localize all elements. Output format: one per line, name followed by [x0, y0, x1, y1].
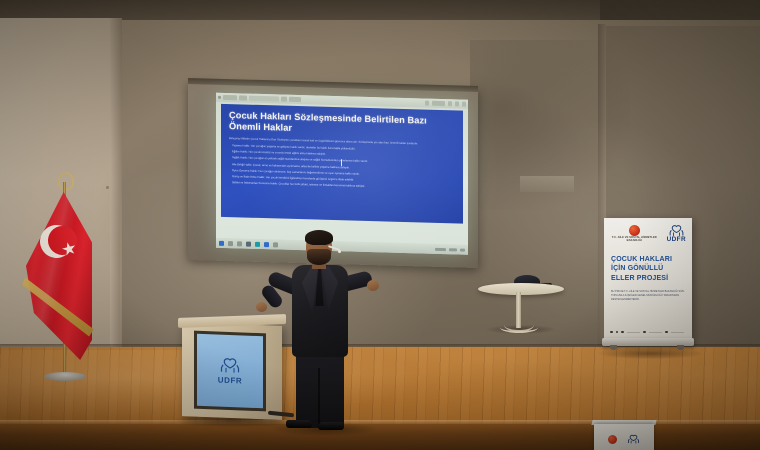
- roller-dot: [616, 331, 619, 334]
- udfr-logo: UDFR: [667, 225, 686, 243]
- text-cursor: [341, 159, 342, 166]
- explorer-icon[interactable]: [246, 241, 251, 246]
- speaker-hair: [305, 230, 333, 245]
- flag-finial-icon: [58, 172, 74, 190]
- floor-sign: [594, 424, 654, 450]
- roller-rail: [627, 332, 641, 333]
- browser-share-icon[interactable]: [425, 101, 429, 106]
- banner-sheet: T.C. AİLE VE SOSYAL HİZMETLER BAKANLIĞI …: [604, 218, 692, 340]
- banner-feet: [610, 345, 684, 351]
- speaker-legs: [296, 352, 344, 428]
- speaker-leg-seam: [318, 368, 320, 426]
- roller-dot: [621, 331, 624, 334]
- rollup-banner: T.C. AİLE VE SOSYAL HİZMETLER BAKANLIĞI …: [604, 218, 696, 358]
- minimize-icon[interactable]: [448, 101, 452, 106]
- roller-rail: [671, 332, 685, 333]
- taskbar-tray[interactable]: [435, 247, 465, 251]
- ministry-emblem-icon: [629, 225, 640, 236]
- table-foot: [500, 322, 538, 333]
- browser-present-button[interactable]: [432, 101, 445, 106]
- table-top: [478, 283, 564, 295]
- slide-body: Birleşmiş Milletler Çocuk Haklarına Dair…: [229, 138, 455, 192]
- banner-foot: [610, 345, 617, 350]
- speaker-right-shoe: [318, 422, 344, 430]
- ministry-logo-text: T.C. AİLE VE SOSYAL HİZMETLER BAKANLIĞI: [611, 237, 658, 242]
- udfr-logo-icon: [219, 357, 241, 374]
- browser-tab-3[interactable]: [289, 97, 301, 102]
- roller-dot: [643, 331, 646, 334]
- banner-foot: [677, 345, 684, 350]
- wall-hook-icon: [106, 186, 109, 189]
- roller-dot: [610, 331, 613, 334]
- search-icon[interactable]: [228, 241, 233, 246]
- projected-computer-screen: Çocuk Hakları Sözleşmesinde Belirtilen B…: [216, 93, 468, 255]
- roller-dot: [665, 331, 668, 334]
- browser-window-controls[interactable]: [425, 101, 466, 107]
- banner-roller-mechanism: [610, 330, 684, 334]
- ministry-emblem-icon: [608, 435, 617, 444]
- close-icon[interactable]: [462, 102, 466, 107]
- browser-new-tab-icon[interactable]: [281, 97, 287, 102]
- wall-light-patch: [520, 176, 574, 192]
- clock[interactable]: [449, 248, 457, 251]
- udfr-logo-text: UDFR: [667, 237, 686, 243]
- podium-logo-panel: UDFR: [197, 334, 263, 409]
- banner-subtext: BU PROJE T.C. AİLE VE SOSYAL HİZMETLER B…: [611, 290, 686, 302]
- ministry-logo: T.C. AİLE VE SOSYAL HİZMETLER BAKANLIĞI: [611, 225, 658, 242]
- udfr-logo-icon: [627, 434, 640, 445]
- podium: UDFR: [176, 316, 288, 428]
- maximize-icon[interactable]: [455, 101, 459, 106]
- speaker-left-hand: [256, 302, 267, 312]
- browser-back-icon[interactable]: [218, 96, 221, 99]
- podium-logo-text: UDFR: [218, 375, 243, 385]
- browser-tab-2[interactable]: [239, 95, 247, 100]
- roller-rail: [649, 332, 663, 333]
- microphone-capsule: [338, 250, 341, 253]
- presentation-slide: Çocuk Hakları Sözleşmesinde Belirtilen B…: [221, 104, 463, 224]
- task-view-icon[interactable]: [237, 241, 242, 246]
- browser-tab-active[interactable]: [249, 96, 279, 102]
- notification-icon[interactable]: [460, 248, 465, 251]
- slide-title: Çocuk Hakları Sözleşmesinde Belirtilen B…: [229, 110, 455, 139]
- banner-logo-row: T.C. AİLE VE SOSYAL HİZMETLER BAKANLIĞI …: [611, 225, 686, 247]
- banner-headline: ÇOCUK HAKLARI İÇİN GÖNÜLLÜ ELLER PROJESİ: [611, 255, 686, 283]
- browser-tab-1[interactable]: [223, 95, 237, 100]
- settings-icon[interactable]: [255, 241, 260, 246]
- speaker-beard: [307, 249, 331, 265]
- start-icon[interactable]: [219, 240, 224, 245]
- flag-stand-base: [44, 372, 86, 381]
- presentation-photo: Çocuk Hakları Sözleşmesinde Belirtilen B…: [0, 0, 760, 450]
- tray-icons[interactable]: [435, 247, 446, 250]
- speaker-right-hand: [367, 280, 379, 291]
